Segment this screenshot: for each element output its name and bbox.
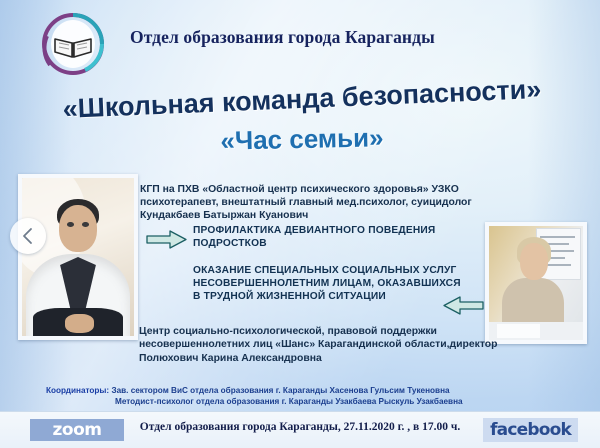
open-book-circle-emblem-icon [39,9,107,79]
topic-1-line-2: ПОДРОСТКОВ [193,238,493,251]
topic-1-line-1: ПРОФИЛАКТИКА ДЕВИАНТНОГО ПОВЕДЕНИЯ [193,225,493,238]
speaker-line-1: КГП на ПХВ «Областной центр психического… [140,183,490,196]
organization-block: Центр социально-психологической, правово… [139,325,489,365]
arrow-left-icon [442,296,484,315]
page-title: Отдел образования города Караганды [130,27,550,48]
topic-2-line-2: НЕСОВЕРШЕННОЛЕТНИМ ЛИЦАМ, ОКАЗАВШИХСЯ [193,277,493,290]
topic-2-line-1: ОКАЗАНИЕ СПЕЦИАЛЬНЫХ СОЦИАЛЬНЫХ УСЛУГ [193,264,493,277]
topic-1-block: ПРОФИЛАКТИКА ДЕВИАНТНОГО ПОВЕДЕНИЯ ПОДРО… [193,225,493,250]
speaker-block: КГП на ПХВ «Областной центр психического… [140,183,490,223]
organization-line-1: Центр социально-психологической, правово… [139,325,489,338]
chevron-left-icon[interactable] [10,218,46,254]
footer-bar: zoom Отдел образования города Караганды,… [0,411,600,448]
coordinators-label: Координаторы: [46,386,109,395]
portrait-photo-male-doctor [18,174,138,340]
facebook-logo[interactable]: facebook [483,418,578,442]
portrait-photo-female-director [485,222,587,344]
speaker-line-3: Кундакбаев Батыржан Куанович [140,209,490,222]
coordinator-line-2: Методист-психолог отдела образования г. … [46,396,566,407]
coordinators-block: Координаторы: Зав. сектором ВиС отдела о… [46,385,566,408]
headline-line-2: «Час семьи» [26,118,579,161]
headline-line-1: «Школьная команда безопасности» [26,72,579,126]
headline: «Школьная команда безопасности» «Час сем… [26,84,578,164]
arrow-right-icon [146,230,188,249]
organization-line-2: несовершеннолетних лиц «Шанс» Карагандин… [139,338,489,351]
slide-canvas: Отдел образования города Караганды «Школ… [0,0,600,448]
coordinator-line-1: Зав. сектором ВиС отдела образования г. … [111,386,449,395]
speaker-line-2: психотерапевт, внештатный главный мед.пс… [140,196,490,209]
organization-line-3: Полюхович Карина Александровна [139,352,489,365]
